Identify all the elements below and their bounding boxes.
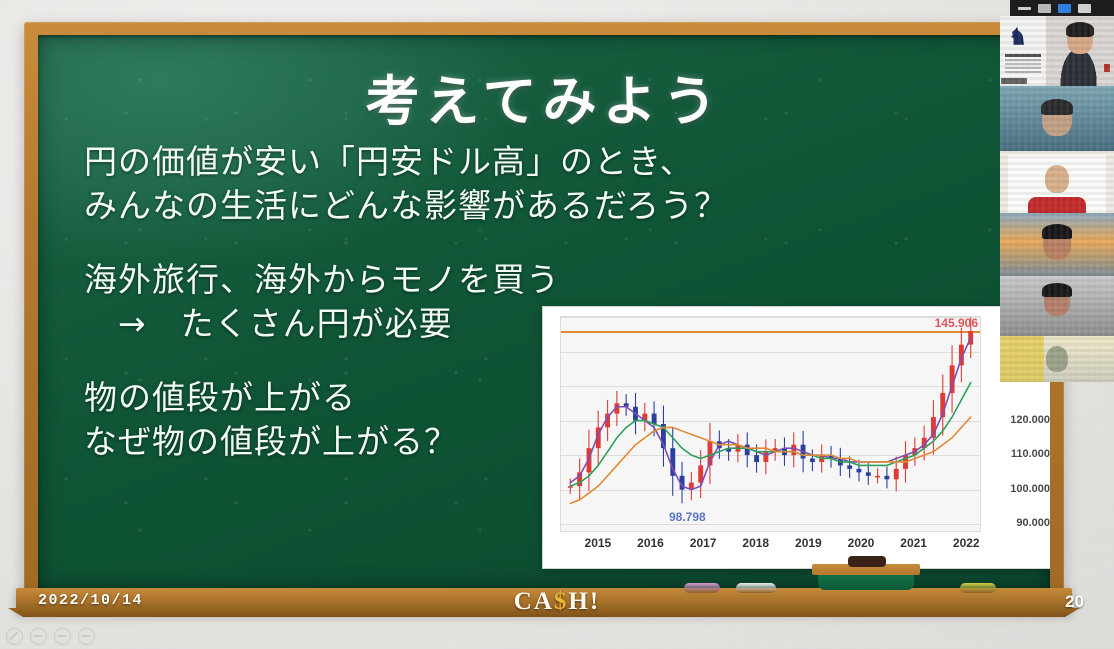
x-tick-label: 2022: [953, 536, 980, 550]
participant-pixelation: [1000, 336, 1114, 382]
participant-pixelation: [1000, 213, 1114, 276]
participant-tile-3[interactable]: [1000, 151, 1114, 213]
presenter-tile[interactable]: [1000, 16, 1114, 86]
cash-logo: CA$H!: [0, 588, 1114, 616]
blackboard-surface: 考えてみよう 円の価値が安い「円安ドル高」のとき、 みんなの生活にどんな影響があ…: [38, 35, 1050, 588]
y-tick-label: 90.000: [1016, 517, 1050, 529]
video-layout-toolbar[interactable]: [1010, 0, 1114, 16]
x-tick-label: 2015: [585, 536, 612, 550]
page-title: 考えてみよう: [38, 57, 1050, 136]
chart-low-label: 98.798: [669, 510, 706, 524]
participant-pixelation: [1000, 276, 1114, 336]
presenter-pixelation: [1000, 16, 1114, 86]
participant-tile-6[interactable]: [1000, 336, 1114, 382]
y-tick-label: 110.000: [1011, 448, 1050, 460]
lock-icon: [30, 628, 47, 645]
chart-series-svg: [561, 317, 980, 531]
usdjpy-chart-panel: 120.000110.000100.00090.000 201520162017…: [542, 306, 1050, 569]
y-tick-label: 120.000: [1010, 414, 1050, 426]
body-spacer-1: [84, 228, 728, 258]
logo-suffix: H!: [568, 588, 600, 615]
chart-high-label: 145.906: [935, 316, 978, 330]
grid-view-icon[interactable]: [1078, 4, 1091, 13]
chart-x-axis: 20152016201720182019202020212022: [560, 536, 981, 558]
body-line-2: みんなの生活にどんな影響があるだろう？: [84, 184, 728, 228]
x-tick-label: 2018: [742, 536, 769, 550]
single-view-icon[interactable]: [1038, 4, 1051, 13]
participant-tile-4[interactable]: [1000, 213, 1114, 276]
y-tick-label: 100.000: [1010, 483, 1050, 495]
x-tick-label: 2020: [848, 536, 875, 550]
x-tick-label: 2017: [690, 536, 717, 550]
search-icon: [54, 628, 71, 645]
page-number: 20: [1065, 592, 1084, 612]
eraser: [812, 556, 920, 590]
player-watermark-icons: [6, 628, 95, 645]
x-tick-label: 2019: [795, 536, 822, 550]
x-tick-label: 2021: [900, 536, 927, 550]
minus-icon: [78, 628, 95, 645]
participant-pixelation: [1000, 86, 1114, 151]
participant-tile-5[interactable]: [1000, 276, 1114, 336]
blackboard-frame: 考えてみよう 円の価値が安い「円安ドル高」のとき、 みんなの生活にどんな影響があ…: [24, 22, 1064, 600]
body-line-1: 円の価値が安い「円安ドル高」のとき、: [84, 140, 728, 184]
eraser-handle: [848, 556, 886, 567]
no-entry-icon: [6, 628, 23, 645]
dollar-icon: $: [554, 588, 569, 615]
strip-view-icon[interactable]: [1058, 4, 1071, 13]
x-tick-label: 2016: [637, 536, 664, 550]
participant-tile-2[interactable]: [1000, 86, 1114, 151]
chart-plot-area: [560, 316, 981, 532]
logo-prefix: CA: [514, 588, 554, 615]
body-line-3: 海外旅行、海外からモノを買う: [84, 258, 728, 302]
speaker-view-icon[interactable]: [1018, 7, 1031, 10]
slide-stage: 考えてみよう 円の価値が安い「円安ドル高」のとき、 みんなの生活にどんな影響があ…: [0, 0, 1114, 649]
video-conference-rail: [1000, 0, 1114, 382]
participant-pixelation: [1000, 151, 1114, 213]
